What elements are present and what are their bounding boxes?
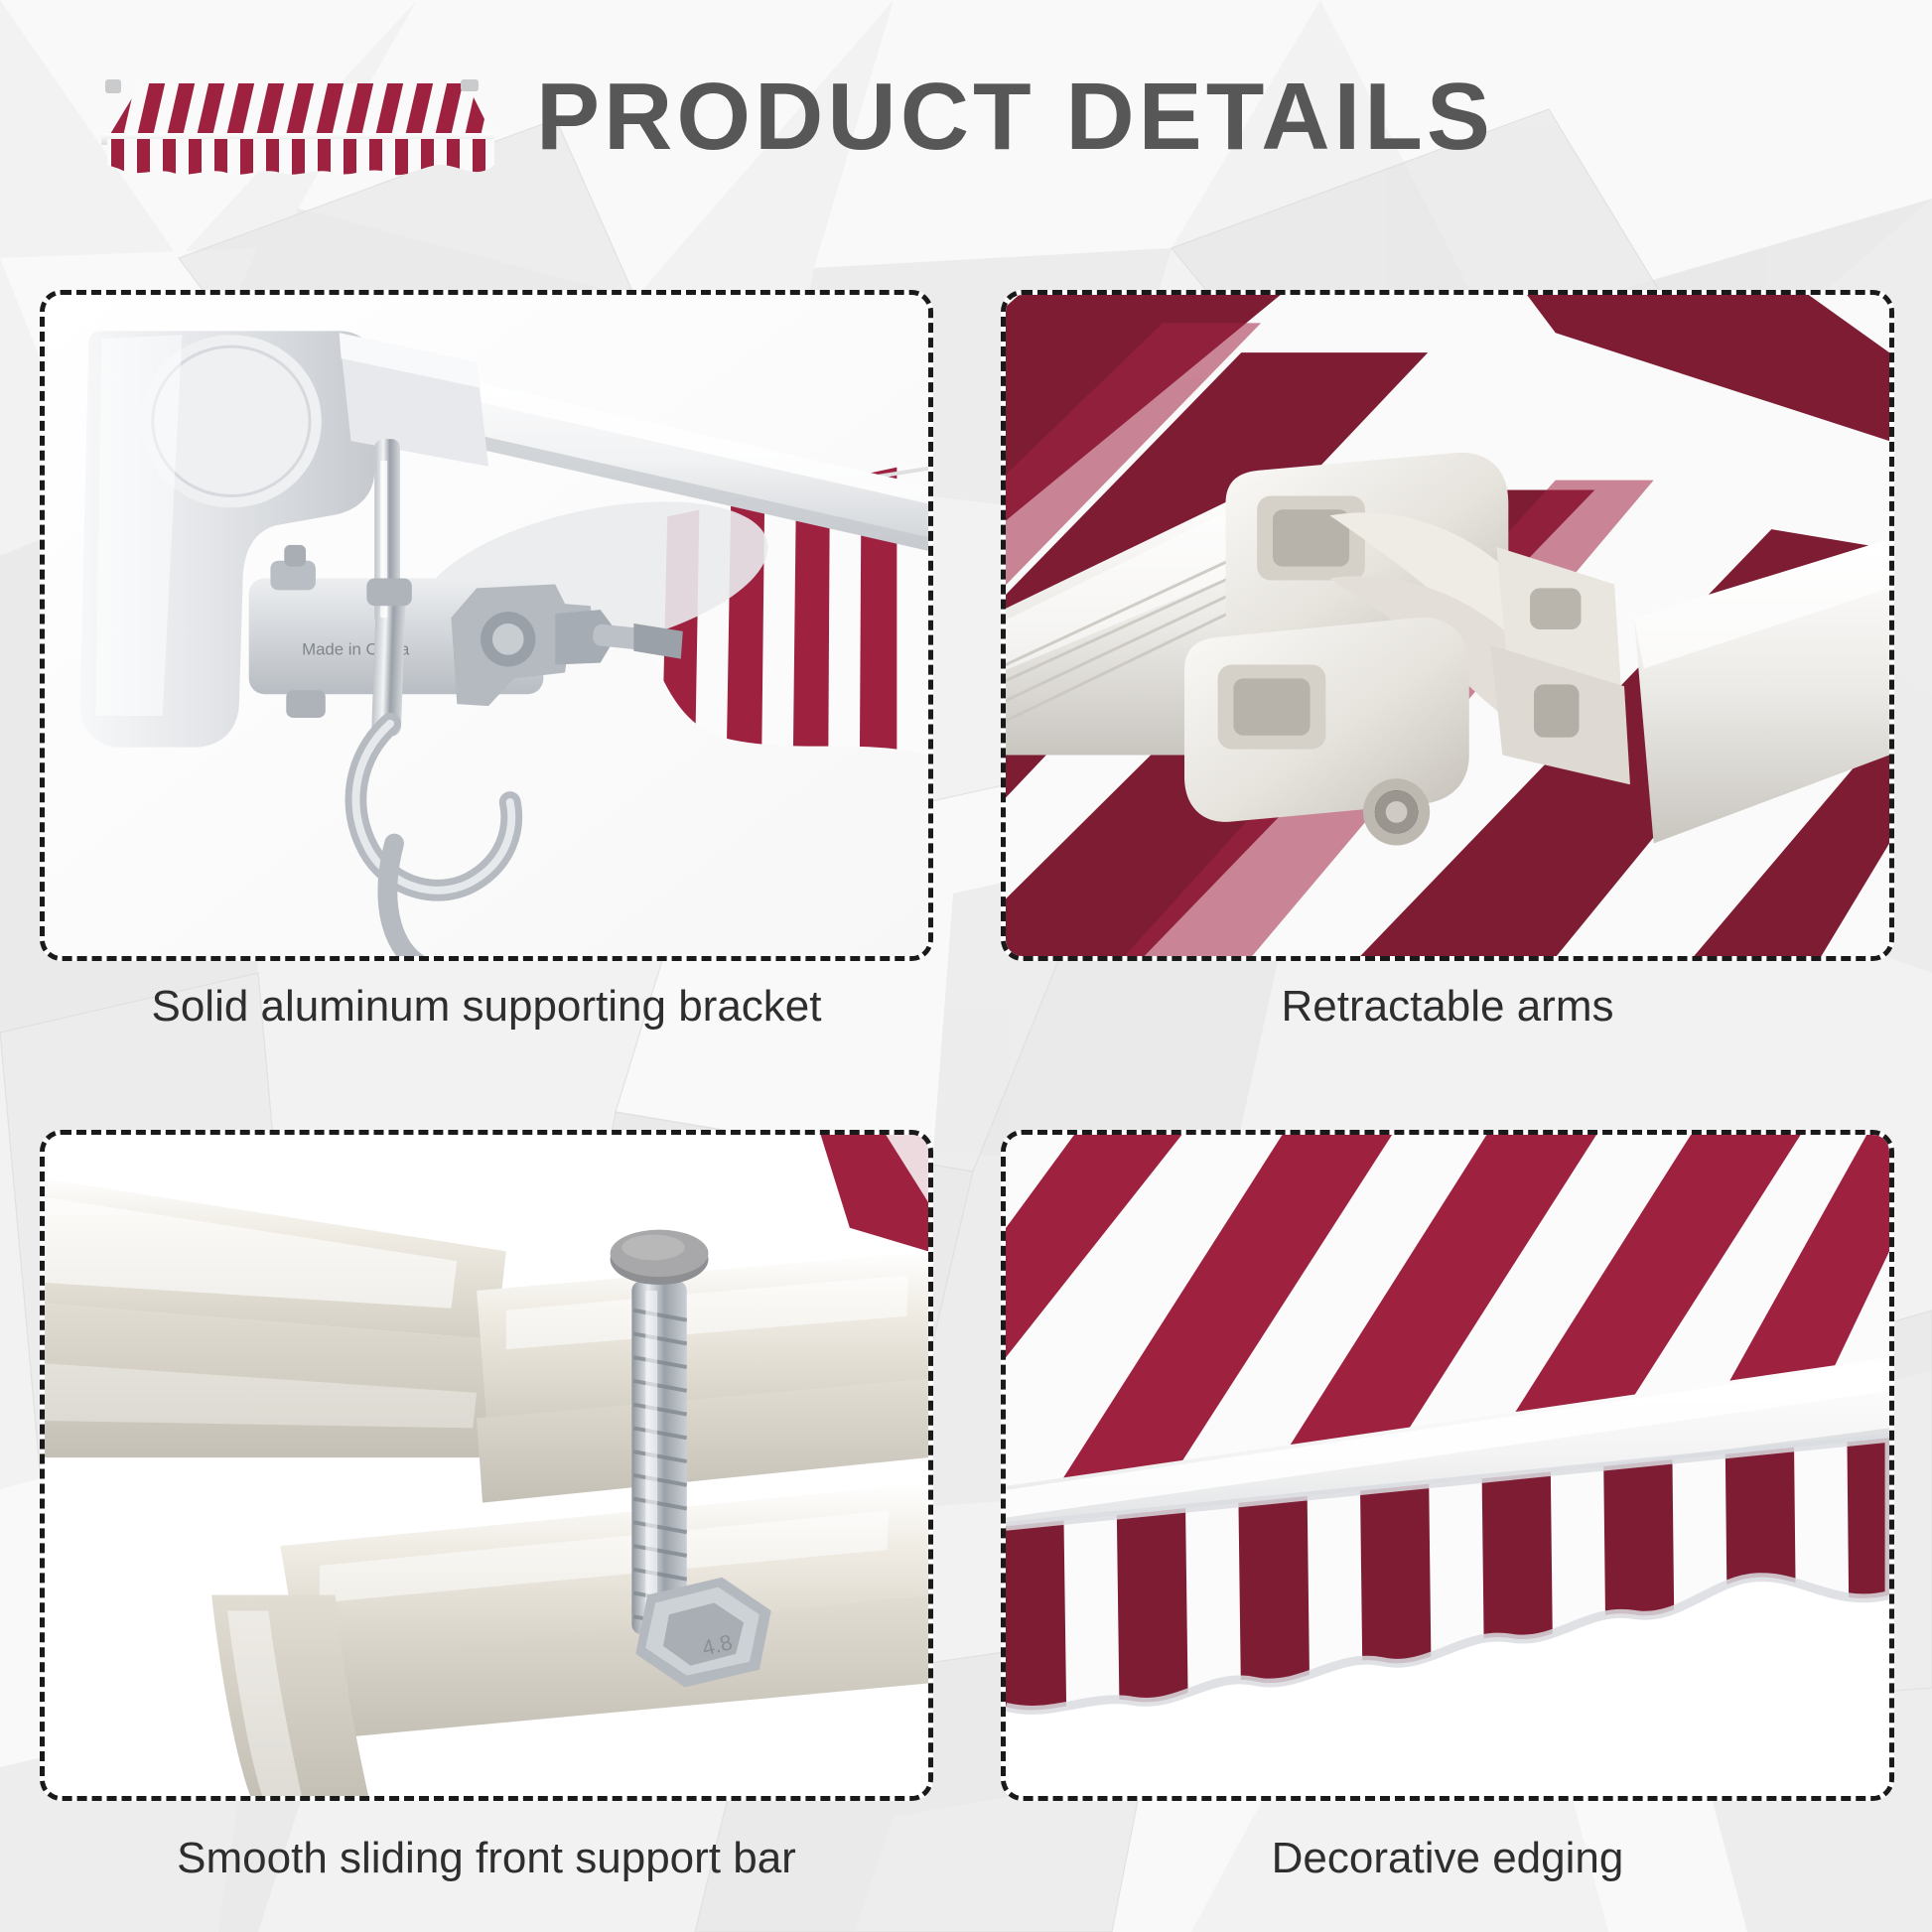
striped-awning-logo [77,69,494,179]
front-support-bar-bolt-photo: 4.8 [45,1135,928,1796]
caption-edging: Decorative edging [1001,1830,1894,1887]
caption-arms: Retractable arms [1001,978,1894,1035]
aluminum-support-bracket-photo: Made in China [45,295,928,956]
caption-support-bar: Smooth sliding front support bar [40,1830,933,1887]
detail-panel-arms [1001,290,1894,961]
scalloped-valance-edging-photo [1006,1135,1889,1796]
product-details-infographic: PRODUCT DETAILS [0,0,1932,1932]
detail-panel-edging [1001,1130,1894,1801]
detail-panel-bracket: Made in China [40,290,933,961]
caption-bracket: Solid aluminum supporting bracket [40,978,933,1035]
retractable-arm-elbow-photo [1006,295,1889,956]
page-title: PRODUCT DETAILS [536,58,1866,177]
detail-panel-support-bar: 4.8 [40,1130,933,1801]
header: PRODUCT DETAILS [0,0,1932,243]
